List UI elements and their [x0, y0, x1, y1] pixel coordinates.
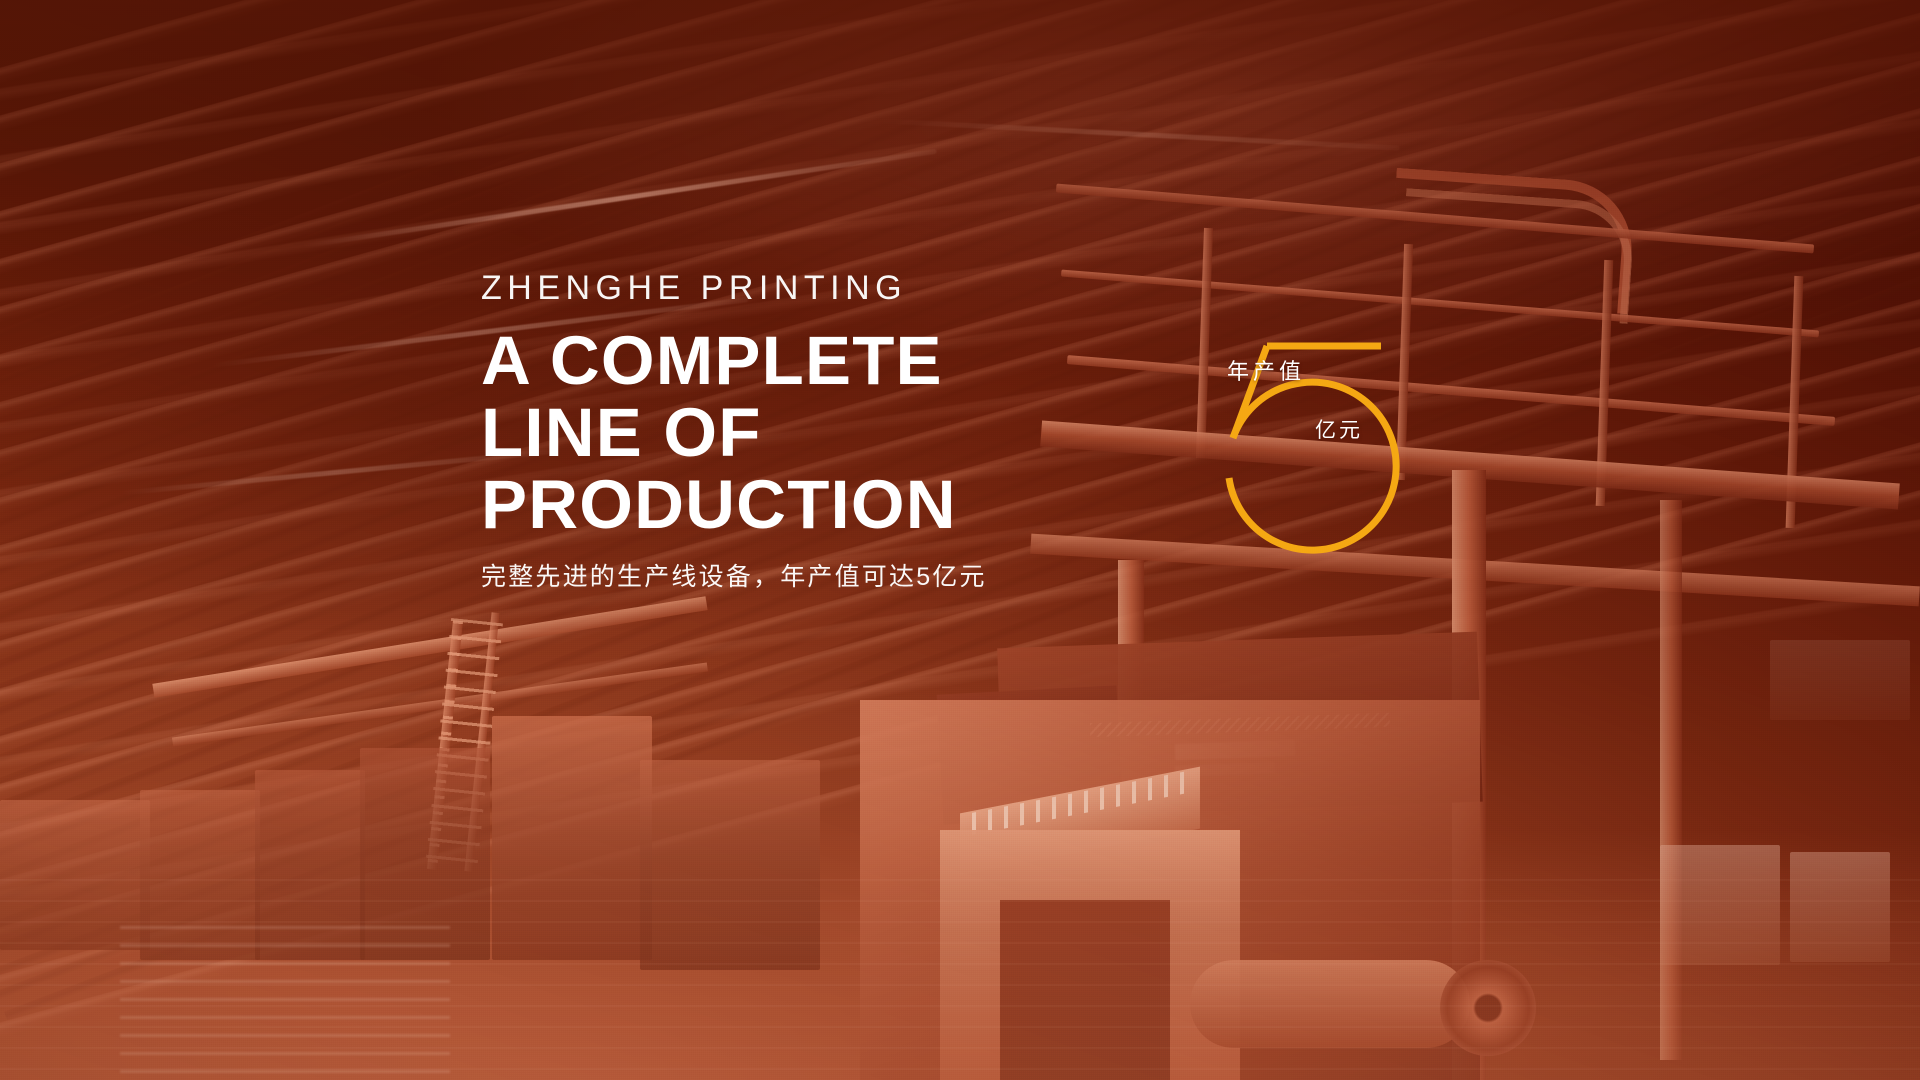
annual-output-badge: 5 年产值 亿元	[1205, 330, 1395, 530]
badge-number: 5	[1223, 308, 1332, 504]
badge-label: 年产值	[1227, 354, 1305, 386]
banner-subtitle: 完整先进的生产线设备，年产值可达5亿元	[481, 561, 1121, 594]
headline-line-2: LINE OF	[481, 397, 1121, 469]
headline-line-1: A COMPLETE	[481, 325, 1121, 397]
banner-copy: ZHENGHE PRINTING A COMPLETE LINE OF PROD…	[481, 271, 1121, 594]
brand-eyebrow: ZHENGHE PRINTING	[481, 271, 1121, 305]
headline-line-3: PRODUCTION	[481, 469, 1121, 541]
badge-unit: 亿元	[1315, 414, 1363, 444]
hero-banner: ZHENGHE PRINTING A COMPLETE LINE OF PROD…	[0, 0, 1920, 1080]
page-title: A COMPLETE LINE OF PRODUCTION	[481, 325, 1121, 541]
